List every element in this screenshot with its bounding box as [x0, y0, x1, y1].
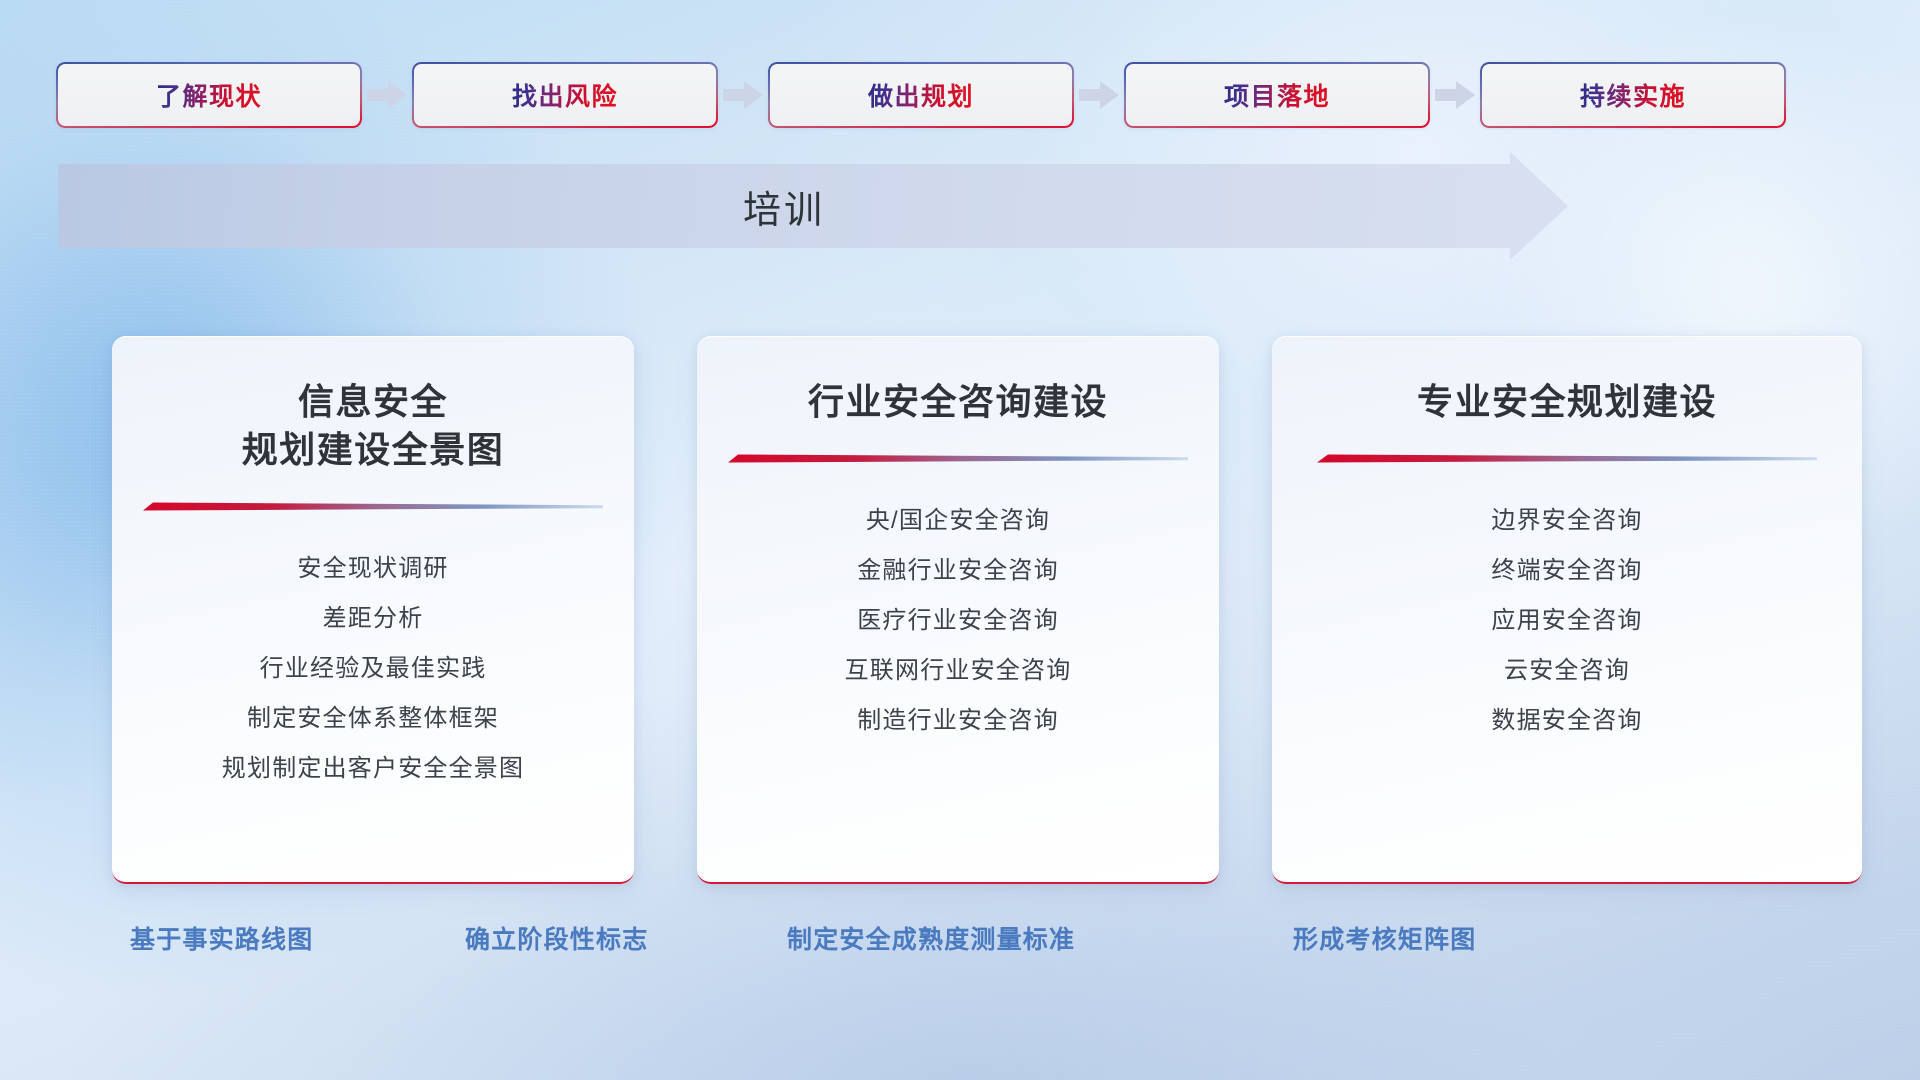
- list-item: 制造行业安全咨询: [697, 696, 1219, 746]
- training-banner: 培训: [58, 164, 1510, 248]
- card-item-list: 央/国企安全咨询 金融行业安全咨询 医疗行业安全咨询 互联网行业安全咨询 制造行…: [697, 496, 1219, 746]
- card-divider-rule: [1317, 452, 1817, 466]
- card-divider-rule: [143, 500, 603, 514]
- step-chip-3[interactable]: 做出规划: [768, 62, 1074, 128]
- list-item: 金融行业安全咨询: [697, 546, 1219, 596]
- step-label: 了解现状: [156, 77, 262, 113]
- banner-title: 培训: [58, 164, 1510, 248]
- step-label: 持续实施: [1580, 77, 1686, 113]
- caption-row: 基于事实路线图 确立阶段性标志 制定安全成熟度测量标准 形成考核矩阵图: [0, 920, 1920, 972]
- list-item: 边界安全咨询: [1272, 496, 1862, 546]
- list-item: 医疗行业安全咨询: [697, 596, 1219, 646]
- card-group: 信息安全 规划建设全景图: [0, 336, 1920, 896]
- list-item: 规划制定出客户安全全景图: [112, 744, 634, 794]
- step-chip-5[interactable]: 持续实施: [1480, 62, 1786, 128]
- arrow-right-icon: [1430, 62, 1480, 128]
- card-title: 信息安全 规划建设全景图: [242, 378, 505, 474]
- list-item: 安全现状调研: [112, 544, 634, 594]
- arrow-right-icon: [1074, 62, 1124, 128]
- list-item: 终端安全咨询: [1272, 546, 1862, 596]
- card-title: 专业安全规划建设: [1417, 378, 1717, 426]
- slide-canvas: 了解现状 找出风险 做出规划 项目落地: [0, 0, 1920, 1080]
- step-chip-2[interactable]: 找出风险: [412, 62, 718, 128]
- card-divider-rule: [728, 452, 1188, 466]
- list-item: 应用安全咨询: [1272, 596, 1862, 646]
- arrow-right-icon: [362, 62, 412, 128]
- list-item: 制定安全体系整体框架: [112, 694, 634, 744]
- card-3[interactable]: 专业安全规划建设: [1272, 336, 1862, 884]
- step-label: 项目落地: [1224, 77, 1330, 113]
- step-label: 做出规划: [868, 77, 974, 113]
- step-chip-1[interactable]: 了解现状: [56, 62, 362, 128]
- caption-1: 基于事实路线图: [130, 920, 313, 956]
- step-label: 找出风险: [512, 77, 618, 113]
- arrow-right-icon: [718, 62, 768, 128]
- card-1[interactable]: 信息安全 规划建设全景图: [112, 336, 634, 884]
- caption-3: 制定安全成熟度测量标准: [787, 920, 1075, 956]
- list-item: 云安全咨询: [1272, 646, 1862, 696]
- banner-arrow-tip-icon: [1510, 152, 1568, 260]
- card-item-list: 安全现状调研 差距分析 行业经验及最佳实践 制定安全体系整体框架 规划制定出客户…: [112, 544, 634, 794]
- card-title: 行业安全咨询建设: [808, 378, 1108, 426]
- list-item: 差距分析: [112, 594, 634, 644]
- caption-4: 形成考核矩阵图: [1293, 920, 1476, 956]
- card-item-list: 边界安全咨询 终端安全咨询 应用安全咨询 云安全咨询 数据安全咨询: [1272, 496, 1862, 746]
- card-2[interactable]: 行业安全咨询建设: [697, 336, 1219, 884]
- caption-2: 确立阶段性标志: [465, 920, 648, 956]
- step-chip-4[interactable]: 项目落地: [1124, 62, 1430, 128]
- list-item: 央/国企安全咨询: [697, 496, 1219, 546]
- list-item: 互联网行业安全咨询: [697, 646, 1219, 696]
- list-item: 数据安全咨询: [1272, 696, 1862, 746]
- process-step-row: 了解现状 找出风险 做出规划 项目落地: [56, 62, 1868, 128]
- list-item: 行业经验及最佳实践: [112, 644, 634, 694]
